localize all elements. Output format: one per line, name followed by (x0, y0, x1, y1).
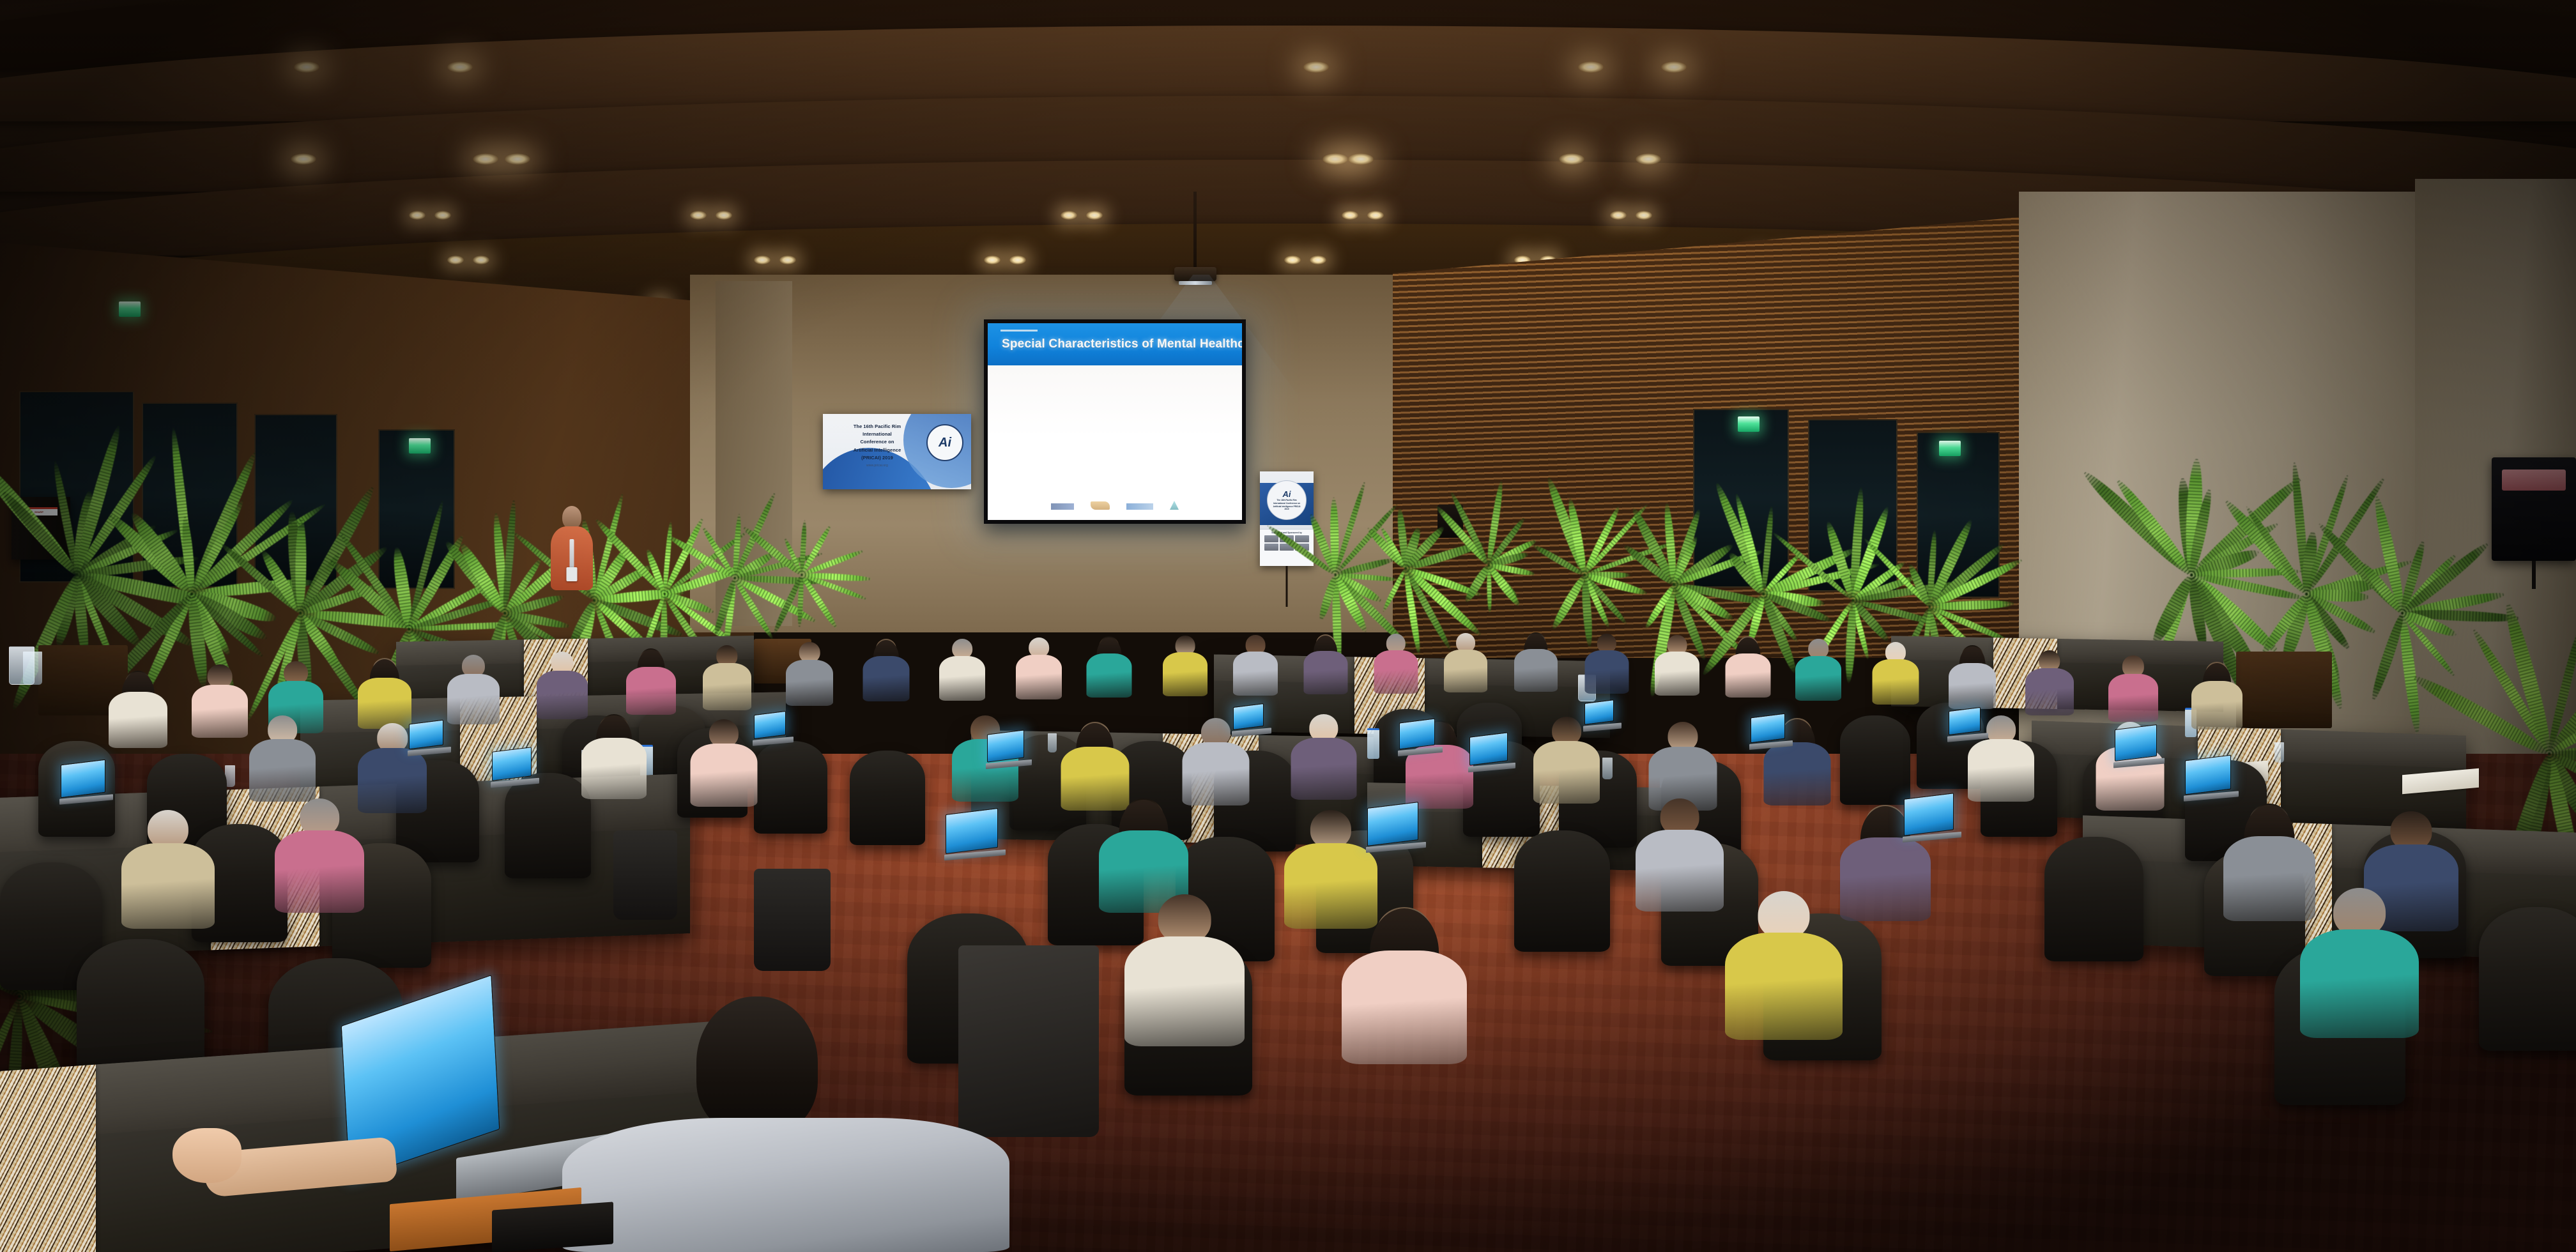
ceiling-downlight (1636, 153, 1661, 165)
attendee-laptop (1469, 729, 1523, 768)
audience-torso (121, 843, 215, 929)
audience-member (1086, 636, 1131, 696)
attendee-laptop (1584, 696, 1629, 728)
plant-pot (2236, 652, 2332, 728)
audience-torso (703, 663, 751, 710)
laptop-screen (2185, 755, 2231, 795)
exit-sign-icon (409, 438, 431, 454)
attendee-laptop (987, 727, 1039, 765)
chair (850, 751, 925, 845)
audience-member (1514, 632, 1558, 691)
audience-torso (109, 692, 167, 747)
banner-line-3: Conference on (832, 438, 923, 446)
audience-torso (626, 667, 676, 715)
slide-logo-icon (1170, 501, 1179, 510)
conference-banner: Ai The 16th Pacific Rim International Co… (823, 414, 971, 489)
audience-torso (1303, 651, 1347, 694)
poster-sponsor-panel: Supported and Sponsored by (1260, 529, 1314, 566)
ceiling-downlight (716, 211, 732, 220)
banner-line-2: International (832, 431, 923, 438)
audience-torso (1968, 739, 2034, 802)
audience-torso (2108, 674, 2158, 722)
sponsor-logo-icon (1264, 544, 1278, 551)
projector-pole (1193, 192, 1197, 268)
ceiling-downlight (690, 211, 707, 220)
chair (2044, 837, 2143, 961)
attendee-laptop (492, 744, 547, 784)
ceiling-downlight (473, 153, 498, 165)
attendee-laptop (946, 806, 1013, 856)
audience-torso (1086, 653, 1131, 698)
audience-member (1725, 891, 1843, 1037)
poster-stand: Ai The 16th Pacific Rim International Co… (1260, 471, 1314, 566)
audience-member (1444, 633, 1487, 691)
ceiling-downlight (779, 256, 796, 264)
audience-torso (2191, 681, 2242, 730)
slide-footer-logos (988, 501, 1242, 510)
audience-member (1124, 894, 1245, 1042)
audience-member (275, 798, 364, 910)
audience-member (1872, 642, 1919, 703)
audience-torso (1725, 933, 1843, 1041)
ceiling-downlight (447, 256, 464, 264)
chair (754, 741, 827, 834)
audience-member (786, 642, 833, 705)
audience-torso (1795, 656, 1841, 701)
ceiling-downlight (447, 61, 473, 73)
ceiling-downlight (505, 153, 530, 165)
ceiling-downlight (1009, 256, 1026, 264)
slide-logo-icon (1126, 503, 1153, 510)
laptop-screen (1904, 793, 1954, 836)
audience-member (690, 719, 757, 805)
poster-logo-icon: Ai (1283, 489, 1291, 499)
ceiling-downlight (1322, 153, 1348, 165)
ceiling-downlight (409, 211, 425, 220)
attendee-laptop (61, 757, 121, 800)
presenter (549, 506, 594, 602)
ceiling-downlight (1303, 61, 1329, 73)
audience-torso (275, 830, 364, 913)
slide-logo-icon (1091, 501, 1110, 510)
audience-member (1949, 645, 1996, 708)
ceiling-downlight (1636, 211, 1652, 220)
audience-member (1725, 636, 1770, 696)
laptop-screen (1233, 703, 1264, 730)
exit-sign-icon (119, 302, 141, 317)
monitor-stem (2532, 561, 2536, 589)
presenter-badge (567, 567, 578, 581)
ceiling-downlight (1061, 211, 1077, 220)
ceiling-downlight (434, 211, 451, 220)
attendee-laptop (1949, 704, 1996, 738)
batik-table-runner (0, 1065, 96, 1252)
speaker-brand-label: SHARP (20, 507, 57, 515)
audience-member (939, 639, 985, 699)
window-panel (254, 414, 337, 586)
laptop-screen (1367, 802, 1418, 846)
laptop-screen (1949, 707, 1981, 735)
ceiling-downlight (291, 153, 316, 165)
audience-torso (1291, 738, 1356, 800)
audience-torso (862, 656, 909, 701)
smartphone-on-table (492, 1202, 613, 1252)
audience-member (703, 645, 751, 709)
sponsor-logo-icon (1264, 535, 1278, 542)
attendee-laptop (1233, 700, 1279, 733)
audience-torso (1163, 652, 1207, 696)
audience-member (1233, 635, 1278, 694)
attendee-bag (613, 830, 677, 920)
ceiling-projector (1174, 267, 1216, 281)
exit-sign-icon (1939, 441, 1961, 456)
sponsor-logo-icon (1280, 535, 1294, 542)
laptop-screen (946, 808, 998, 854)
attendee-laptop (1399, 715, 1450, 752)
sponsors-label: Supported and Sponsored by (1262, 531, 1312, 534)
loudspeaker-box: SHARP (11, 497, 70, 560)
audience-torso (1233, 652, 1278, 696)
window-panel (1693, 409, 1789, 588)
pricai-logo-icon: Ai (926, 424, 963, 461)
audience-torso (1636, 830, 1724, 912)
presenter-head (562, 506, 581, 529)
audience-torso (1872, 659, 1919, 705)
audience-member (1342, 907, 1467, 1060)
laptop-screen (1751, 714, 1785, 744)
drinking-glass (1048, 733, 1057, 752)
audience-member (249, 715, 316, 800)
audience-torso (1763, 742, 1830, 805)
ceiling-downlight (1348, 153, 1374, 165)
audience-torso (1124, 936, 1245, 1046)
audience-member (1099, 798, 1188, 910)
speaker-stand (1437, 505, 1463, 538)
audience-member (1291, 714, 1356, 798)
attendee-laptop (409, 717, 459, 752)
slide-logo-icon (1051, 503, 1074, 510)
audience-torso (1182, 742, 1249, 805)
audience-member (192, 664, 248, 736)
foreground-hand (172, 1128, 241, 1183)
ceiling-downlight (1610, 211, 1627, 220)
laptop-screen (409, 720, 443, 750)
monitor-glow (2502, 469, 2566, 490)
audience-torso (1342, 950, 1467, 1064)
banner-line-5: (PRICAI) 2019 (832, 454, 923, 462)
ceiling-downlight (473, 256, 489, 264)
laptop-screen (61, 760, 105, 798)
audience-member (581, 714, 647, 797)
ceiling-downlight (1342, 211, 1358, 220)
slide-body (988, 365, 1242, 520)
chair (2479, 907, 2576, 1051)
audience-member (626, 648, 676, 714)
audience-torso (249, 739, 316, 802)
slide-title: Special Characteristics of Mental Health… (1002, 337, 1242, 351)
laptop-screen (492, 747, 532, 781)
audience-member (2108, 655, 2158, 721)
attendee-laptop (2115, 722, 2172, 764)
audience-torso (1514, 649, 1558, 692)
poster-stand-leg (1286, 566, 1288, 607)
exit-sign-icon (1738, 416, 1759, 432)
laptop-screen (1469, 732, 1508, 765)
audience-member (1303, 634, 1347, 693)
laptop-screen (2115, 724, 2157, 761)
audience-member (121, 810, 215, 926)
projector-lens-icon (1179, 281, 1212, 285)
attendee-bag (754, 869, 831, 971)
poster-logo-badge: Ai The 16th Pacific Rim International Co… (1267, 480, 1307, 520)
chair (505, 773, 591, 878)
audience-member (2191, 662, 2242, 728)
ceiling-downlight (1284, 256, 1301, 264)
banner-text-block: The 16th Pacific Rim International Confe… (832, 423, 923, 468)
foreground-torso (562, 1118, 1009, 1252)
window-panel (142, 402, 238, 588)
audience-member (1584, 634, 1629, 692)
audience-torso (537, 671, 588, 720)
audience-member (1016, 637, 1062, 698)
drinking-glass (2274, 742, 2284, 763)
water-bottle (1367, 728, 1379, 759)
audience-torso (2300, 929, 2419, 1038)
audience-torso (192, 685, 248, 738)
audience-member (862, 639, 909, 700)
banner-url: www.pricai.org (832, 463, 923, 468)
audience-member (1374, 634, 1418, 692)
projection-screen: Special Characteristics of Mental Health… (984, 319, 1246, 524)
ceiling-downlight (1578, 61, 1604, 73)
ceiling-downlight (1367, 211, 1384, 220)
sponsor-logo-grid (1262, 535, 1312, 551)
audience-torso (1444, 650, 1487, 692)
audience-torso (1016, 655, 1062, 699)
attendee-laptop (1367, 800, 1434, 848)
ceiling-downlight (1310, 256, 1326, 264)
audience-member (1163, 636, 1207, 695)
audience-member (537, 652, 588, 718)
chair (1514, 830, 1610, 952)
attendee-laptop (1751, 710, 1800, 746)
banner-line-4: Artificial Intelligence (832, 447, 923, 454)
foreground-head (696, 996, 818, 1134)
audience-torso (2025, 668, 2074, 715)
audience-torso (1533, 741, 1600, 804)
audience-member (109, 671, 167, 746)
sponsor-logo-icon (1295, 535, 1309, 542)
audience-torso (1374, 650, 1418, 694)
attendee-laptop (2185, 752, 2246, 797)
water-pitcher (9, 646, 34, 685)
slide-surface: Special Characteristics of Mental Health… (988, 323, 1242, 520)
audience-member (358, 658, 411, 727)
audience-member (2300, 888, 2419, 1035)
ceiling-downlight (984, 256, 1000, 264)
audience-torso (1655, 652, 1699, 696)
audience-torso (1949, 663, 1996, 710)
window-panel (1917, 432, 2000, 598)
audience-member (1636, 798, 1724, 909)
audience-torso (1725, 653, 1770, 698)
chair (1840, 715, 1910, 805)
sponsor-logo-icon (1280, 544, 1294, 551)
pillar (716, 281, 792, 626)
poster-caption: The 16th Pacific Rim International Confe… (1268, 499, 1306, 511)
banner-line-1: The 16th Pacific Rim (832, 423, 923, 431)
laptop-screen (754, 711, 786, 739)
wall-monitor (2492, 457, 2576, 561)
drinking-glass (1602, 758, 1613, 779)
audience-torso (1840, 837, 1931, 922)
foreground-attendee (562, 996, 1009, 1252)
ceiling-downlight (754, 256, 770, 264)
presenter-lanyard (570, 539, 574, 569)
attendee-laptop (1904, 791, 1969, 838)
audience-torso (786, 660, 833, 706)
audience-member (1655, 635, 1699, 694)
attendee-laptop (754, 708, 801, 742)
ceiling-downlight (1661, 61, 1687, 73)
conference-hall-photo: Special Characteristics of Mental Health… (0, 0, 2576, 1252)
ceiling-downlight (294, 61, 319, 73)
audience-torso (1584, 650, 1629, 694)
audience-torso (690, 744, 757, 807)
slide-header-bar: Special Characteristics of Mental Health… (988, 323, 1242, 365)
audience-member (1795, 639, 1841, 699)
laptop-screen (1584, 699, 1614, 725)
audience-member (1648, 722, 1717, 809)
slide-accent-rule (1000, 330, 1038, 332)
ceiling-downlight (1086, 211, 1103, 220)
window-panel (1808, 419, 1897, 592)
ceiling-downlight (1559, 153, 1584, 165)
laptop-screen (987, 729, 1024, 762)
audience-torso (581, 738, 647, 799)
audience-torso (358, 748, 427, 813)
laptop-screen (1399, 719, 1435, 750)
audience-member (2025, 650, 2074, 714)
audience-torso (939, 656, 985, 701)
audience-member (1061, 722, 1129, 809)
audience-member (447, 655, 500, 722)
sponsor-logo-icon (1295, 544, 1309, 551)
audience-torso (358, 678, 411, 729)
